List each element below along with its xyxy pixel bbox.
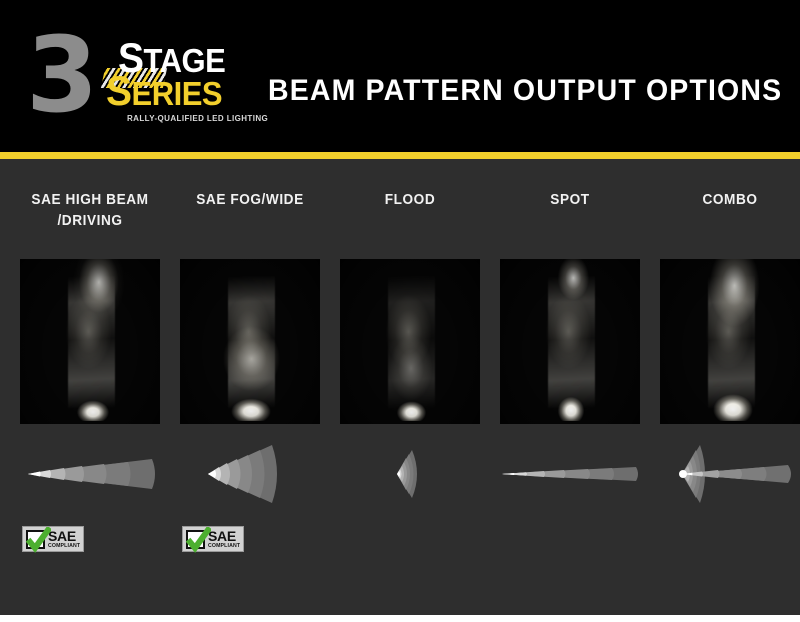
column-label: SAE FOG/WIDE [167,190,332,211]
column-label-line1: SPOT [550,192,589,208]
logo-word-stage: STAGE [118,42,225,78]
header-bar: 3 STAGE SERIES RALLY-QUALIFIED LED LIGHT… [0,0,800,152]
column-label: SAE HIGH BEAM /DRIVING [7,190,172,232]
beam-photo-spot [500,259,640,424]
content-area: SAE HIGH BEAM /DRIVING [0,159,800,615]
check-box-icon [186,530,205,549]
beam-diagram-flood [340,441,480,507]
column-label-line1: SAE FOG/WIDE [196,192,303,208]
photo-scene [660,259,800,424]
column-sae-high-beam-driving: SAE HIGH BEAM /DRIVING [20,159,160,615]
beam-photo-sae-high-beam-driving [20,259,160,424]
photo-vignette [340,259,480,424]
logo-tagline: RALLY-QUALIFIED LED LIGHTING [127,114,268,123]
photo-scene [180,259,320,424]
column-label-line1: FLOOD [385,192,436,208]
column-sae-fog-wide: SAE FOG/WIDE [180,159,320,615]
column-label-line1: SAE HIGH BEAM [31,192,148,208]
photo-scene [20,259,160,424]
beam-diagram-sae-fog-wide [180,441,320,507]
logo-series-capital: S [106,69,132,115]
badge-title: SAE [208,529,240,543]
bottom-white-strip [0,615,800,622]
photo-scene [500,259,640,424]
logo-word-series: SERIES [106,75,222,111]
badge-subtitle: COMPLIANT [48,544,80,549]
sae-compliant-badge: SAE COMPLIANT [22,526,84,552]
photo-vignette [20,259,160,424]
column-flood: FLOOD [340,159,480,615]
column-label: FLOOD [327,190,492,211]
beam-photo-combo [660,259,800,424]
beam-diagram-sae-high-beam-driving [20,441,160,507]
stage-series-logo: 3 STAGE SERIES RALLY-QUALIFIED LED LIGHT… [26,28,241,126]
column-spot: SPOT [500,159,640,615]
sae-compliant-badge: SAE COMPLIANT [182,526,244,552]
column-label: COMBO [647,190,800,211]
photo-vignette [660,259,800,424]
beam-pattern-infographic: 3 STAGE SERIES RALLY-QUALIFIED LED LIGHT… [0,0,800,622]
badge-title: SAE [48,529,80,543]
logo-wordmark: STAGE SERIES RALLY-QUALIFIED LED LIGHTIN… [98,42,243,124]
logo-series-rest: ERIES [132,75,223,113]
beam-diagram-spot [500,441,640,507]
badge-text-group: SAE COMPLIANT [208,529,240,549]
photo-vignette [180,259,320,424]
badge-text-group: SAE COMPLIANT [48,529,80,549]
badge-subtitle: COMPLIANT [208,544,240,549]
column-label-line2: /DRIVING [7,211,172,232]
yellow-accent-divider [0,152,800,159]
photo-vignette [500,259,640,424]
column-combo: COMBO [660,159,800,615]
column-label: SPOT [487,190,652,211]
beam-diagram-combo [660,441,800,507]
beam-photo-flood [340,259,480,424]
page-title: BEAM PATTERN OUTPUT OPTIONS [268,74,782,108]
check-box-icon [26,530,45,549]
beam-photo-sae-fog-wide [180,259,320,424]
photo-scene [340,259,480,424]
logo-numeral-3: 3 [26,26,92,124]
column-label-line1: COMBO [702,192,757,208]
